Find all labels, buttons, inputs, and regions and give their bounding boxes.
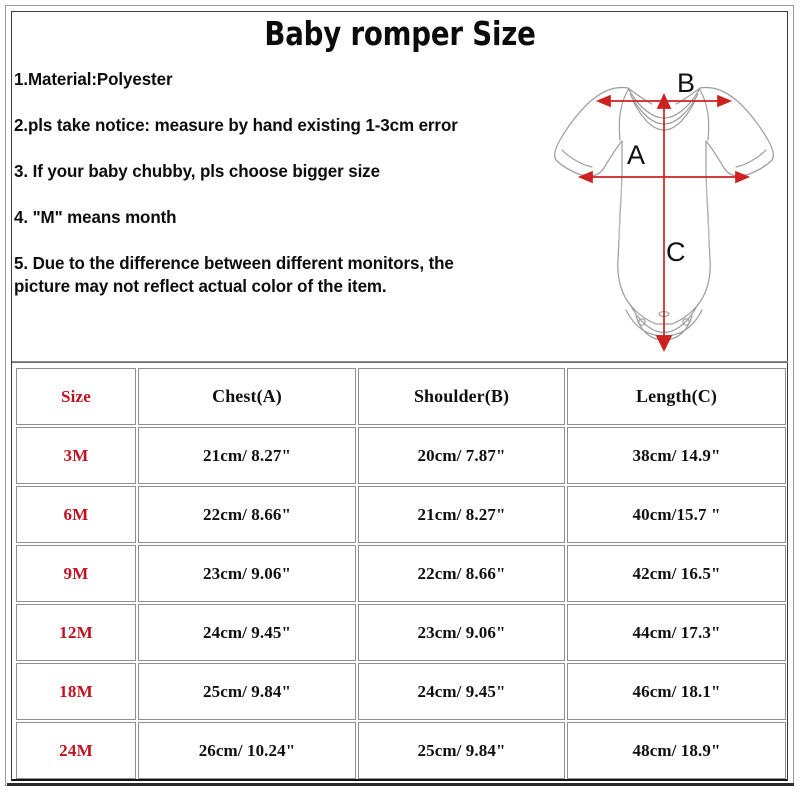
header-length: Length(C) [567,368,786,425]
label-shoulder-b: B [677,68,695,98]
row-chest-value: 23cm/ 9.06" [138,545,356,602]
row-shoulder-value: 24cm/ 9.45" [358,663,565,720]
row-length-value: 42cm/ 16.5" [567,545,786,602]
row-length-value: 44cm/ 17.3" [567,604,786,661]
header-chest: Chest(A) [138,368,356,425]
row-size-label: 18M [16,663,136,720]
info-note-bigger-size: 3. If your baby chubby, pls choose bigge… [14,160,509,183]
table-row: 9M 23cm/ 9.06" 22cm/ 8.66" 42cm/ 16.5" [16,545,786,602]
row-chest-value: 24cm/ 9.45" [138,604,356,661]
row-chest-value: 22cm/ 8.66" [138,486,356,543]
row-chest-value: 21cm/ 8.27" [138,427,356,484]
row-length-value: 38cm/ 14.9" [567,427,786,484]
table-row: 3M 21cm/ 8.27" 20cm/ 7.87" 38cm/ 14.9" [16,427,786,484]
table-top-separator [12,361,788,363]
frame-bottom-shadow [7,783,794,786]
row-chest-value: 26cm/ 10.24" [138,722,356,779]
info-note-measure-error: 2.pls take notice: measure by hand exist… [14,114,509,137]
info-note-month-meaning: 4. "M" means month [14,206,509,229]
info-note-monitor-color: 5. Due to the difference between differe… [14,252,509,298]
info-notes-list: 1.Material:Polyester 2.pls take notice: … [14,68,524,299]
row-shoulder-value: 23cm/ 9.06" [358,604,565,661]
header-size: Size [16,368,136,425]
page-title: Baby romper Size [28,14,772,53]
row-chest-value: 25cm/ 9.84" [138,663,356,720]
row-size-label: 24M [16,722,136,779]
row-shoulder-value: 21cm/ 8.27" [358,486,565,543]
table-row: 6M 22cm/ 8.66" 21cm/ 8.27" 40cm/15.7 " [16,486,786,543]
label-length-c: C [666,237,686,267]
row-size-label: 9M [16,545,136,602]
table-row: 24M 26cm/ 10.24" 25cm/ 9.84" 48cm/ 18.9" [16,722,786,779]
row-size-label: 12M [16,604,136,661]
row-size-label: 6M [16,486,136,543]
row-length-value: 48cm/ 18.9" [567,722,786,779]
size-table: Size Chest(A) Shoulder(B) Length(C) 3M 2… [14,366,788,781]
table-row: 12M 24cm/ 9.45" 23cm/ 9.06" 44cm/ 17.3" [16,604,786,661]
row-shoulder-value: 20cm/ 7.87" [358,427,565,484]
label-chest-a: A [627,140,645,170]
header-shoulder: Shoulder(B) [358,368,565,425]
row-length-value: 40cm/15.7 " [567,486,786,543]
row-shoulder-value: 25cm/ 9.84" [358,722,565,779]
row-shoulder-value: 22cm/ 8.66" [358,545,565,602]
table-header-row: Size Chest(A) Shoulder(B) Length(C) [16,368,786,425]
table-row: 18M 25cm/ 9.84" 24cm/ 9.45" 46cm/ 18.1" [16,663,786,720]
romper-illustration: B A C [540,54,788,356]
row-length-value: 46cm/ 18.1" [567,663,786,720]
info-note-material: 1.Material:Polyester [14,68,509,91]
size-chart-page: Baby romper Size 1.Material:Polyester 2.… [0,0,800,800]
row-size-label: 3M [16,427,136,484]
